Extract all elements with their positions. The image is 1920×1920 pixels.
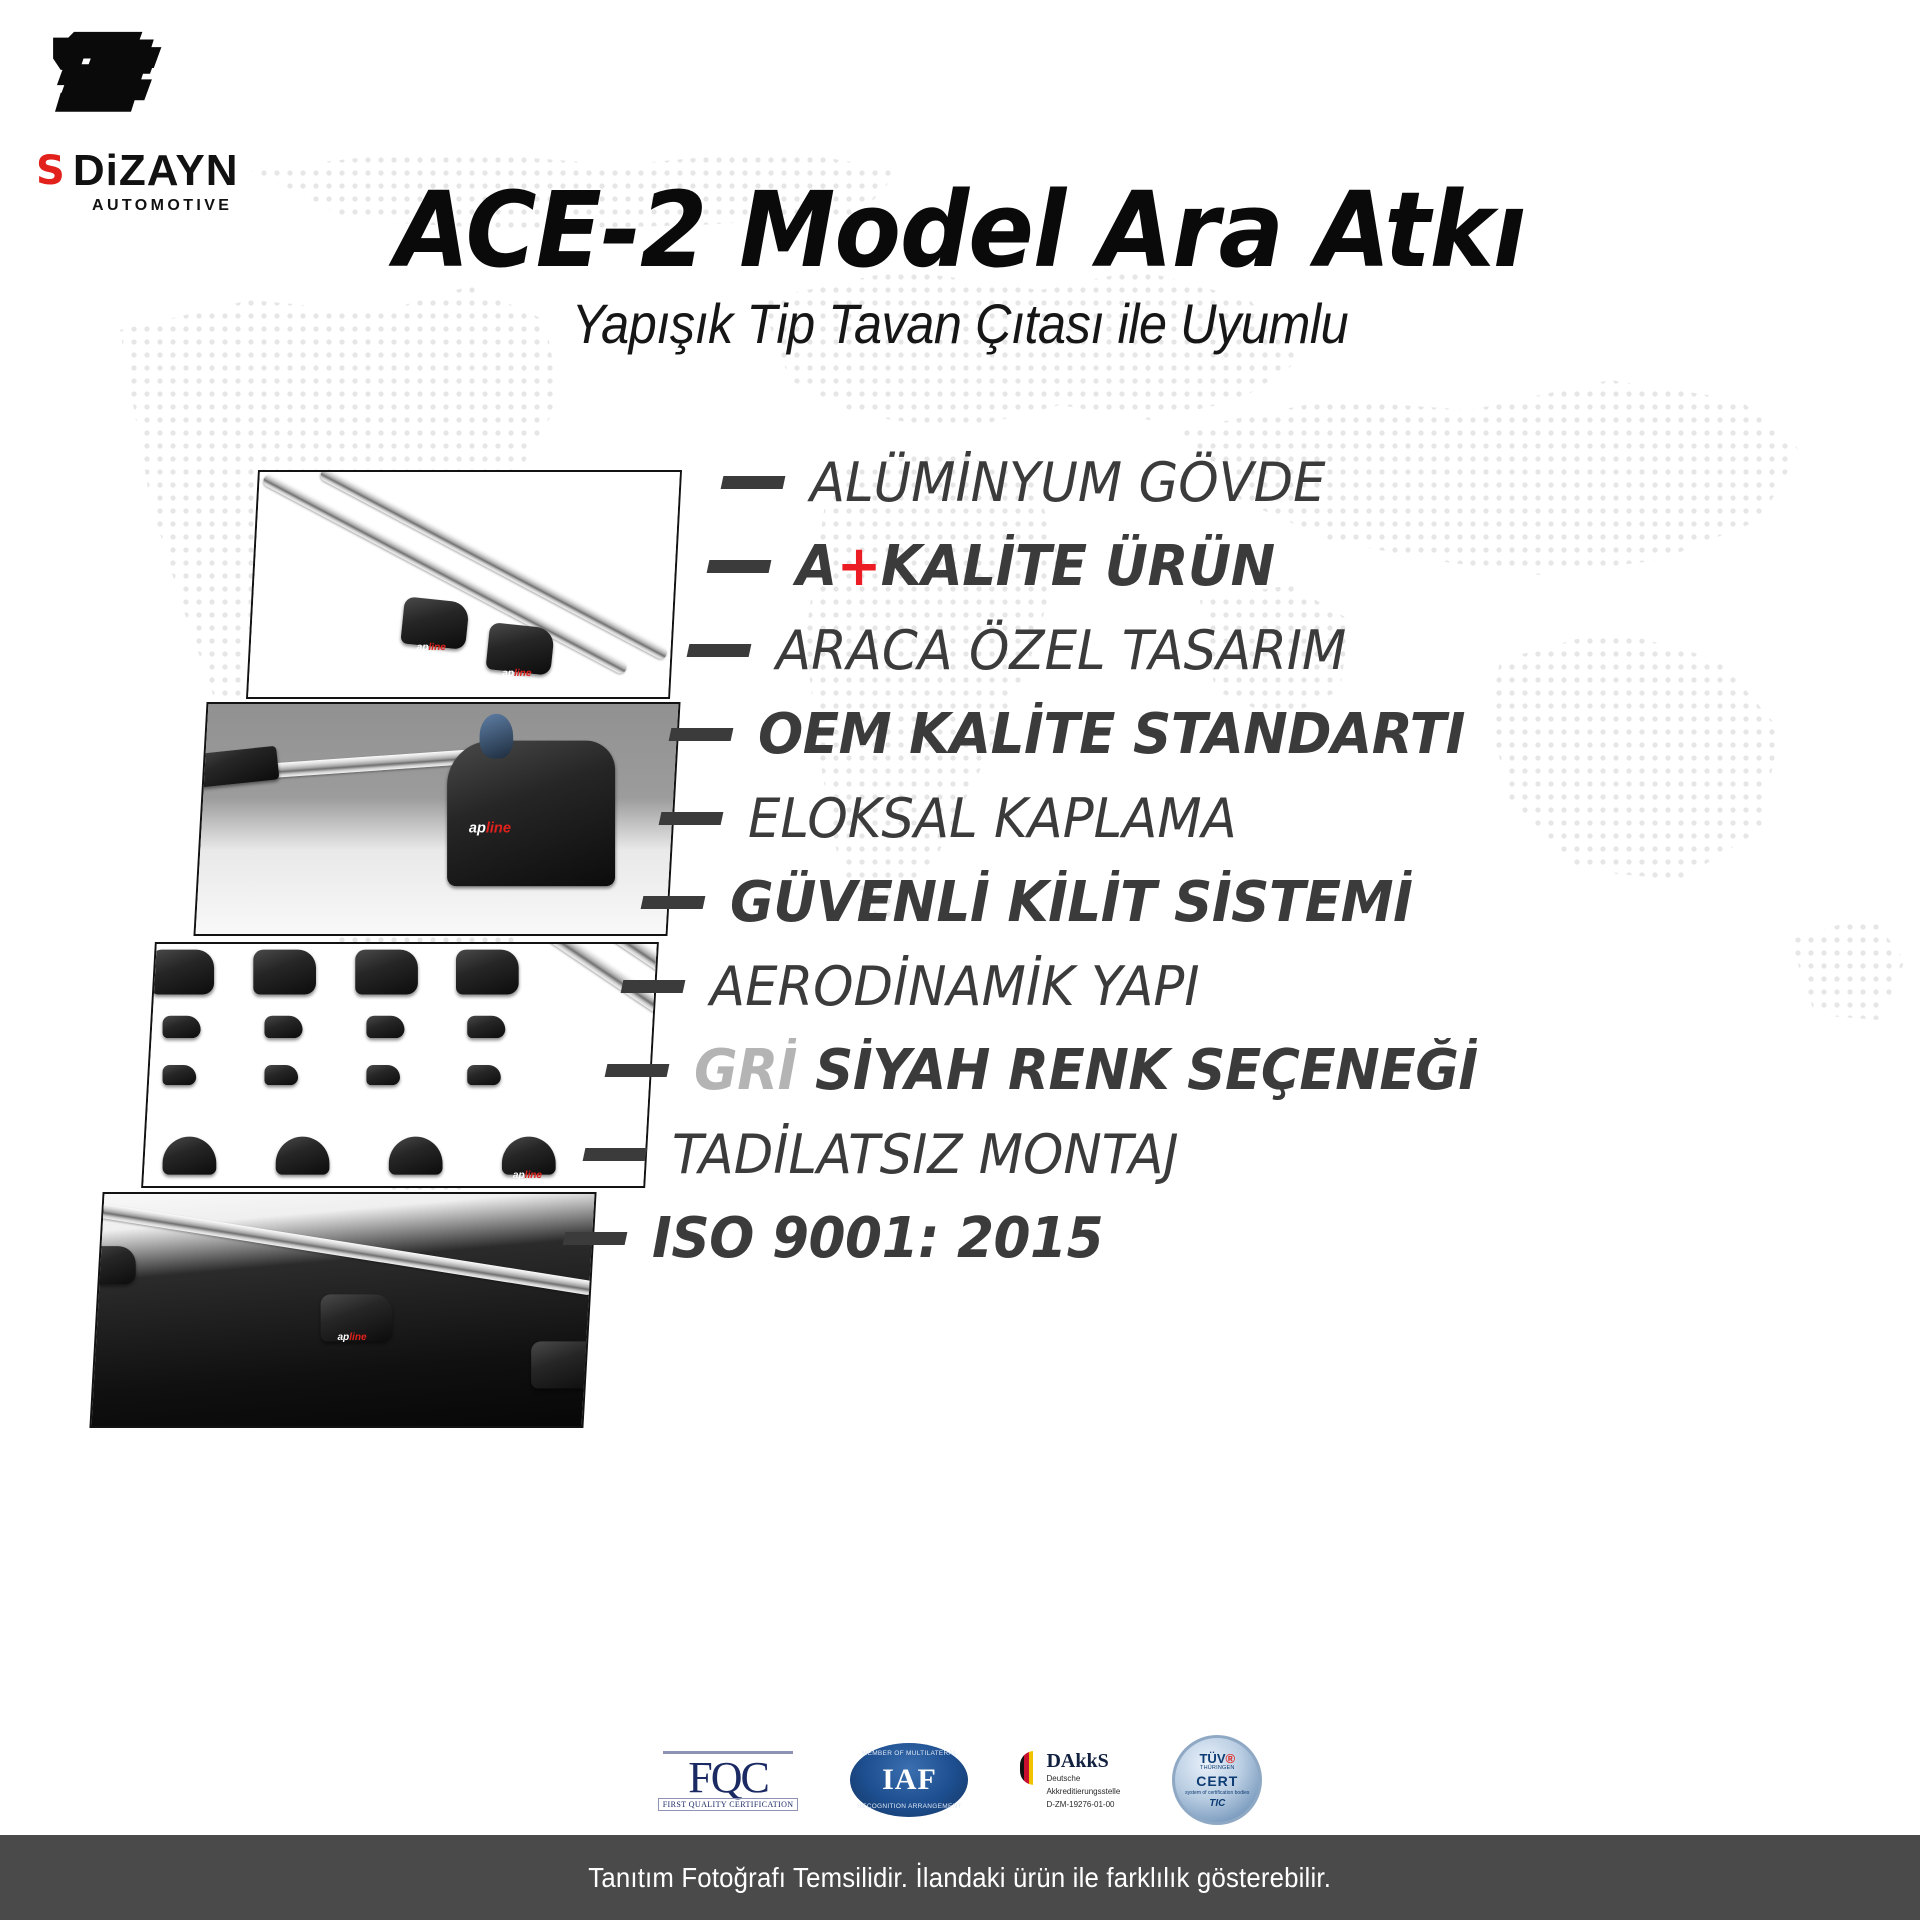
tuv-badge: TÜV® THÜRINGEN CERT system of certificat… bbox=[1172, 1735, 1262, 1825]
feature-label: TADİLATSIZ MONTAJ bbox=[672, 1123, 1179, 1186]
dash-bullet-icon bbox=[721, 476, 786, 489]
dash-bullet-icon bbox=[563, 1232, 628, 1245]
feature-label: OEM KALİTE STANDARTI bbox=[758, 702, 1465, 767]
feature-list: ALÜMİNYUM GÖVDE A+KALİTE ÜRÜN ARACA ÖZEL… bbox=[660, 440, 1900, 1280]
fqc-badge: FQC FIRST QUALITY CERTIFICATION bbox=[658, 1749, 799, 1812]
feature-item-eloksal-kaplama: ELOKSAL KAPLAMA bbox=[660, 776, 1900, 860]
fqc-title: FQC bbox=[688, 1757, 768, 1799]
dash-bullet-icon bbox=[687, 644, 752, 657]
feature-label: ELOKSAL KAPLAMA bbox=[748, 787, 1237, 850]
certificate-badges: FQC FIRST QUALITY CERTIFICATION MEMBER O… bbox=[0, 1735, 1920, 1825]
feature-item-aerodinamik-yapi: AERODİNAMİK YAPI bbox=[622, 944, 1900, 1028]
feature-item-iso-9001: ISO 9001: 2015 bbox=[564, 1196, 1900, 1280]
feature-label: ARACA ÖZEL TASARIM bbox=[776, 619, 1346, 682]
crossbar-pair-photo: apline apline bbox=[246, 470, 682, 699]
page-title: ACE-2 Model Ara Atkı bbox=[67, 176, 1853, 285]
apline-mark: apline bbox=[502, 667, 531, 678]
fqc-caption: FIRST QUALITY CERTIFICATION bbox=[658, 1798, 799, 1811]
feature-label: ISO 9001: 2015 bbox=[652, 1206, 1103, 1271]
feature-label: A+KALİTE ÜRÜN bbox=[796, 534, 1275, 599]
feature-item-oem-kalite-standarti: OEM KALİTE STANDARTI bbox=[670, 692, 1900, 776]
iaf-oval-icon: MEMBER OF MULTILATERAL IAF RECOGNITION A… bbox=[850, 1743, 968, 1817]
s-dizayn-monogram-icon bbox=[36, 20, 226, 135]
dakks-line1: Deutsche bbox=[1046, 1774, 1120, 1784]
tuv-region: THÜRINGEN bbox=[1200, 1765, 1235, 1771]
apline-mark: apline bbox=[469, 819, 511, 836]
feature-item-aluminyum-govde: ALÜMİNYUM GÖVDE bbox=[722, 440, 1900, 524]
feature-item-guvenli-kilit-sistemi: GÜVENLİ KİLİT SİSTEMİ bbox=[642, 860, 1900, 944]
dakks-title: DAkkS bbox=[1046, 1751, 1120, 1771]
product-photo-column: apline apline apline bbox=[0, 470, 660, 1590]
feature-label: ALÜMİNYUM GÖVDE bbox=[810, 451, 1326, 514]
dakks-badge: DAkkS Deutsche Akkreditierungsstelle D-Z… bbox=[1020, 1751, 1120, 1810]
dakks-arc-icon bbox=[1020, 1751, 1040, 1785]
tuv-sub: system of certification bodies bbox=[1185, 1790, 1249, 1796]
brand-logo: S DiZAYN AUTOMOTIVE bbox=[24, 20, 294, 215]
tuv-tic: TIC bbox=[1209, 1798, 1225, 1809]
logo-s-letter: S bbox=[36, 151, 63, 191]
logo-name: DiZAYN bbox=[73, 149, 239, 193]
feature-label: AERODİNAMİK YAPI bbox=[710, 955, 1199, 1018]
dash-bullet-icon bbox=[621, 980, 686, 993]
tuv-title: TÜV® bbox=[1199, 1752, 1235, 1765]
plus-highlight: + bbox=[837, 534, 881, 599]
tuv-cert-word: CERT bbox=[1196, 1773, 1238, 1789]
dash-bullet-icon bbox=[583, 1148, 648, 1161]
page-subtitle: Yapışık Tip Tavan Çıtası ile Uyumlu bbox=[96, 291, 1824, 356]
dash-bullet-icon bbox=[659, 812, 724, 825]
dakks-line2: Akkreditierungsstelle bbox=[1046, 1787, 1120, 1797]
dash-bullet-icon bbox=[669, 728, 734, 741]
grey-word: GRİ bbox=[694, 1038, 797, 1103]
disclaimer-text: Tanıtım Fotoğrafı Temsilidir. İlandaki ü… bbox=[589, 1862, 1332, 1894]
iaf-badge: MEMBER OF MULTILATERAL IAF RECOGNITION A… bbox=[850, 1743, 968, 1817]
disclaimer-banner: Tanıtım Fotoğrafı Temsilidir. İlandaki ü… bbox=[0, 1835, 1920, 1920]
feature-item-gri-siyah-renk-secenegi: GRİ SİYAH RENK SEÇENEĞİ bbox=[606, 1028, 1900, 1112]
feature-item-a-plus-kalite-urun: A+KALİTE ÜRÜN bbox=[708, 524, 1900, 608]
iaf-top-text: MEMBER OF MULTILATERAL bbox=[850, 1750, 968, 1757]
apline-mark: apline bbox=[417, 641, 446, 652]
crossbars-on-black-car-photo: apline bbox=[89, 1192, 596, 1428]
feature-item-tadilatsiz-montaj: TADİLATSIZ MONTAJ bbox=[584, 1112, 1900, 1196]
dash-bullet-icon bbox=[605, 1064, 670, 1077]
logo-tagline: AUTOMOTIVE bbox=[92, 197, 294, 215]
iaf-bottom-text: RECOGNITION ARRANGEMENT bbox=[850, 1803, 968, 1810]
apline-mark: apline bbox=[513, 1170, 542, 1181]
apline-mark: apline bbox=[337, 1331, 366, 1342]
dash-bullet-icon bbox=[707, 560, 772, 573]
feature-item-araca-ozel-tasarim: ARACA ÖZEL TASARIM bbox=[688, 608, 1900, 692]
crossbar-mounted-photo: apline bbox=[193, 702, 680, 936]
tuv-seal-icon: TÜV® THÜRINGEN CERT system of certificat… bbox=[1172, 1735, 1262, 1825]
kit-parts-photo: apline bbox=[141, 942, 659, 1188]
dakks-line3: D-ZM-19276-01-00 bbox=[1046, 1800, 1120, 1810]
feature-label: GRİ SİYAH RENK SEÇENEĞİ bbox=[694, 1038, 1478, 1103]
feature-label: GÜVENLİ KİLİT SİSTEMİ bbox=[730, 870, 1412, 935]
iaf-title: IAF bbox=[882, 1763, 937, 1797]
dash-bullet-icon bbox=[641, 896, 706, 909]
